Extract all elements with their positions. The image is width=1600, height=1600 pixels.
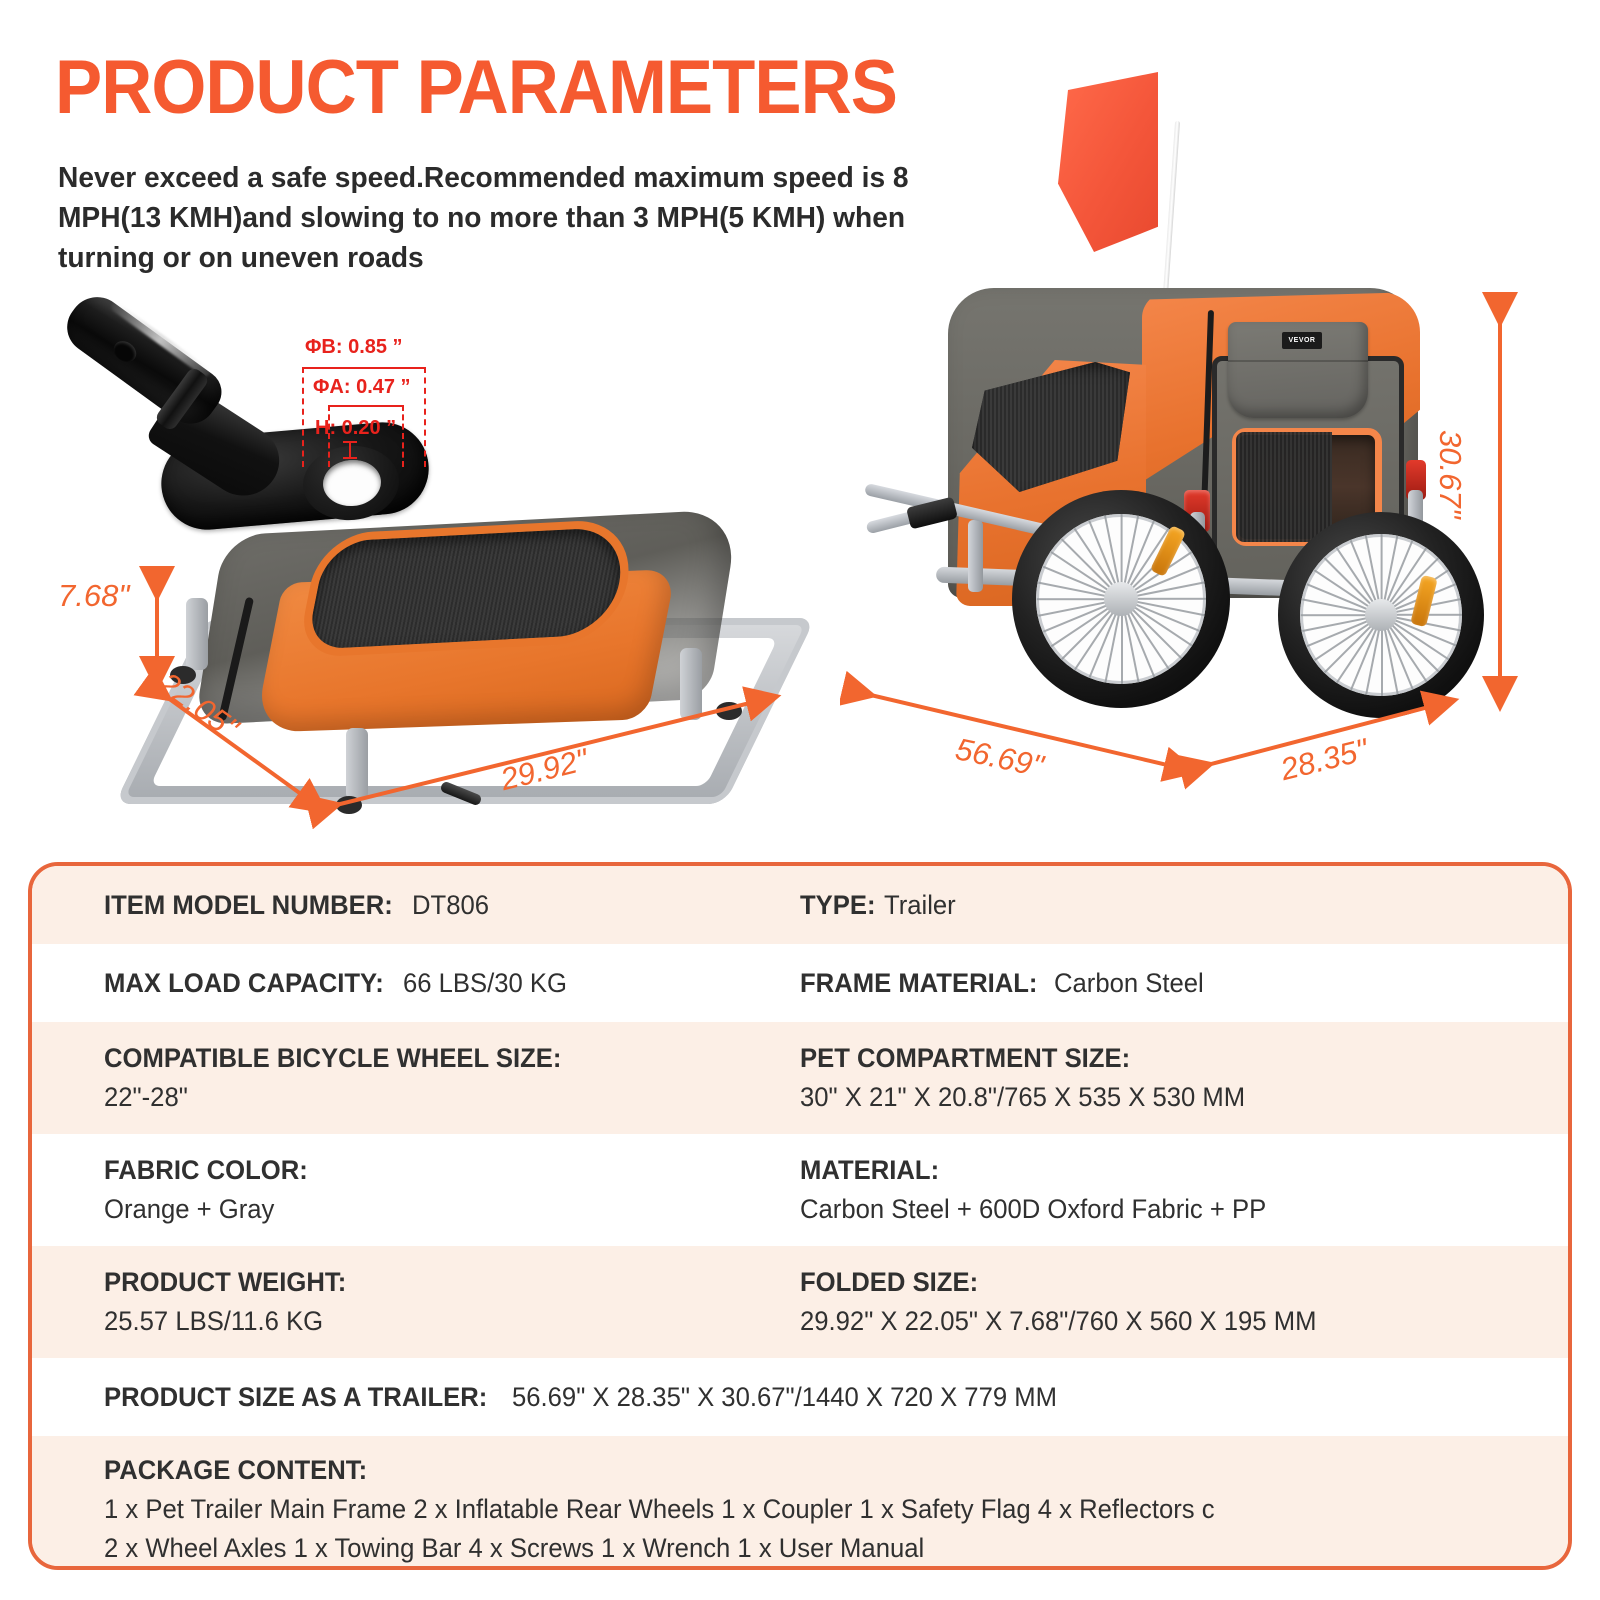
dim-tick-phi-b-right (424, 367, 426, 467)
spec-label: MAX LOAD CAPACITY: (104, 968, 384, 999)
coupler-dim-phi-b: ΦB: 0.85 ” (305, 336, 403, 359)
spec-value: 25.57 LBS/11.6 KG (104, 1306, 323, 1337)
folded-dim-height: 7.68" (58, 578, 129, 614)
spec-value: Carbon Steel (1054, 968, 1204, 999)
spec-label: FABRIC COLOR: (104, 1155, 308, 1186)
coupler-shaft (57, 286, 230, 434)
spec-label: COMPATIBLE BICYCLE WHEEL SIZE: (104, 1043, 561, 1074)
spec-cell-max-load: MAX LOAD CAPACITY: 66 LBS/30 KG (104, 968, 800, 999)
table-row: PRODUCT WEIGHT: 25.57 LBS/11.6 KG FOLDED… (32, 1246, 1568, 1358)
coupler-illustration (75, 280, 435, 525)
spec-label: PRODUCT WEIGHT: (104, 1267, 346, 1298)
spec-value: 22"-28" (104, 1082, 188, 1113)
table-row: PRODUCT SIZE AS A TRAILER: 56.69" X 28.3… (32, 1358, 1568, 1436)
spec-value: 30" X 21" X 20.8"/765 X 535 X 530 MM (800, 1082, 1245, 1113)
safety-note: Never exceed a safe speed.Recommended ma… (58, 158, 989, 278)
spec-cell-frame-material: FRAME MATERIAL: Carbon Steel (800, 968, 1496, 999)
spec-cell-model: ITEM MODEL NUMBER: DT806 (104, 890, 800, 921)
dim-tick-phi-a-right (402, 405, 404, 467)
spec-cell-type: TYPE: Trailer (800, 890, 1496, 921)
spec-cell-fabric-color: FABRIC COLOR: Orange + Gray (104, 1155, 800, 1225)
spec-value: 56.69" X 28.35" X 30.67"/1440 X 720 X 77… (512, 1382, 1057, 1413)
dim-line-phi-b (302, 367, 424, 369)
spec-cell-material: MATERIAL: Carbon Steel + 600D Oxford Fab… (800, 1155, 1496, 1225)
spec-value: Orange + Gray (104, 1194, 274, 1225)
table-row: MAX LOAD CAPACITY: 66 LBS/30 KG FRAME MA… (32, 944, 1568, 1022)
spec-label: FRAME MATERIAL: (800, 968, 1037, 999)
spec-cell-product-weight: PRODUCT WEIGHT: 25.57 LBS/11.6 KG (104, 1267, 800, 1337)
spec-value: 66 LBS/30 KG (403, 968, 567, 999)
spec-label: MATERIAL: (800, 1155, 939, 1186)
trailer-dim-height: 30.67" (1432, 430, 1468, 519)
spec-label: TYPE: (800, 890, 876, 921)
spec-label: PACKAGE CONTENT: (104, 1455, 367, 1486)
spec-value: DT806 (412, 890, 489, 921)
spec-cell-compartment-size: PET COMPARTMENT SIZE: 30" X 21" X 20.8"/… (800, 1043, 1496, 1113)
spec-cell-trailer-size: PRODUCT SIZE AS A TRAILER: 56.69" X 28.3… (104, 1382, 1496, 1413)
spec-label: ITEM MODEL NUMBER: (104, 890, 393, 921)
table-row: COMPATIBLE BICYCLE WHEEL SIZE: 22"-28" P… (32, 1022, 1568, 1134)
coupler-dim-h: H: 0.20 ” (315, 417, 396, 440)
spec-value: 29.92" X 22.05" X 7.68"/760 X 560 X 195 … (800, 1306, 1316, 1337)
trailer-dimension-arrows (840, 290, 1580, 830)
dim-line-phi-a (328, 405, 402, 407)
dim-tick-phi-b-left (302, 367, 304, 467)
coupler-dim-phi-a: ΦA: 0.47 ” (313, 376, 411, 399)
dim-tick-h-top (343, 441, 357, 443)
product-parameters-page: PRODUCT PARAMETERS Never exceed a safe s… (0, 0, 1600, 1600)
specifications-table: ITEM MODEL NUMBER: DT806 TYPE: Trailer M… (28, 862, 1572, 1570)
package-line-2: 2 x Wheel Axles 1 x Towing Bar 4 x Screw… (104, 1533, 924, 1564)
table-row: ITEM MODEL NUMBER: DT806 TYPE: Trailer (32, 866, 1568, 944)
table-row: PACKAGE CONTENT: 1 x Pet Trailer Main Fr… (32, 1436, 1568, 1570)
spec-cell-folded-size: FOLDED SIZE: 29.92" X 22.05" X 7.68"/760… (800, 1267, 1496, 1337)
spec-value: Trailer (884, 890, 956, 921)
dim-tick-h-bottom (343, 457, 357, 459)
spec-label: PET COMPARTMENT SIZE: (800, 1043, 1130, 1074)
spec-label: PRODUCT SIZE AS A TRAILER: (104, 1382, 487, 1413)
table-row: FABRIC COLOR: Orange + Gray MATERIAL: Ca… (32, 1134, 1568, 1246)
folded-dimension-arrows (40, 520, 820, 850)
spec-value: Carbon Steel + 600D Oxford Fabric + PP (800, 1194, 1266, 1225)
spec-label: FOLDED SIZE: (800, 1267, 978, 1298)
package-line-1: 1 x Pet Trailer Main Frame 2 x Inflatabl… (104, 1494, 1215, 1525)
spec-cell-package-content: PACKAGE CONTENT: 1 x Pet Trailer Main Fr… (104, 1455, 1496, 1564)
safety-flag (1058, 72, 1158, 252)
page-title: PRODUCT PARAMETERS (55, 44, 897, 131)
spec-cell-wheel-size: COMPATIBLE BICYCLE WHEEL SIZE: 22"-28" (104, 1043, 800, 1113)
